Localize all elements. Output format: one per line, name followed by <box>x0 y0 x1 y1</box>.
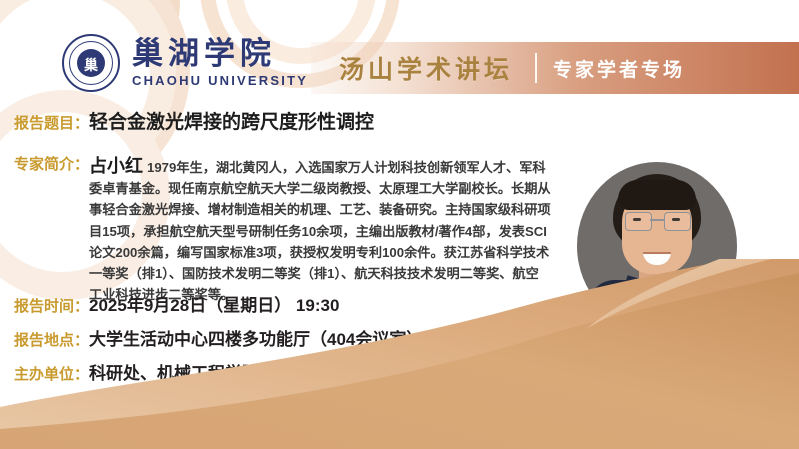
report-title-value: 轻合金激光焊接的跨尺度形性调控 <box>89 110 374 136</box>
bottom-wave-decoration <box>0 259 799 449</box>
university-seal-icon: 巢 <box>62 34 120 92</box>
banner-separator <box>535 53 537 83</box>
seal-mark-glyph: 巢 <box>64 55 118 75</box>
header-banner: 汤山学术讲坛 专家学者专场 <box>311 42 799 94</box>
university-name-block: 巢湖学院 CHAOHU UNIVERSITY <box>132 38 308 88</box>
university-name-en: CHAOHU UNIVERSITY <box>132 73 308 88</box>
poster-canvas: 汤山学术讲坛 专家学者专场 巢 巢湖学院 CHAOHU UNIVERSITY 报… <box>0 0 799 449</box>
university-name-cn: 巢湖学院 <box>132 38 308 71</box>
speaker-name: 占小红 <box>89 156 143 176</box>
banner-main-title: 汤山学术讲坛 <box>339 50 513 86</box>
university-logo: 巢 巢湖学院 CHAOHU UNIVERSITY <box>62 34 308 92</box>
right-accent-curve <box>530 118 799 268</box>
banner-subtitle: 专家学者专场 <box>553 55 685 82</box>
report-title-label: 报告题目： <box>14 110 89 137</box>
report-title-row: 报告题目： 轻合金激光焊接的跨尺度形性调控 <box>14 110 374 137</box>
speaker-bio-label: 专家简介： <box>14 152 89 177</box>
